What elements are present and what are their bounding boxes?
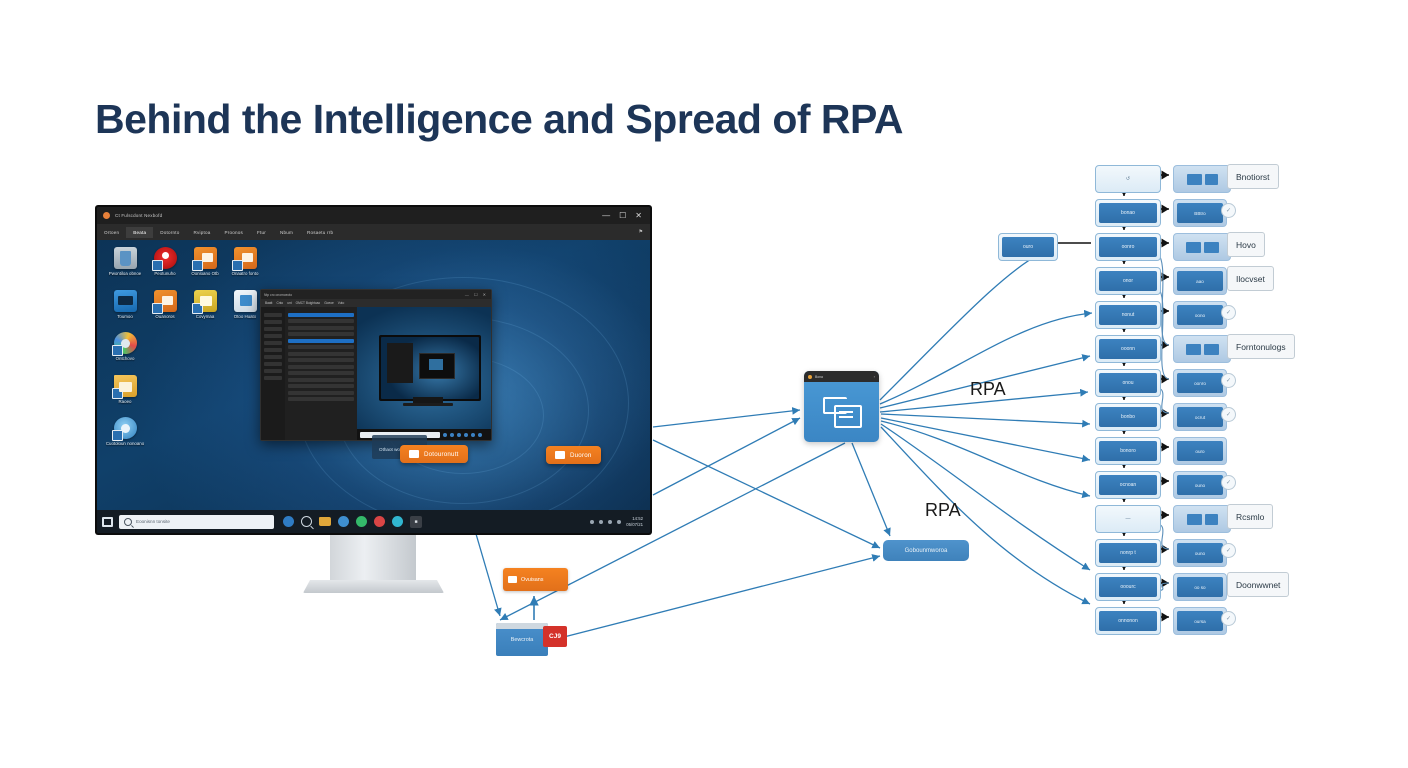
taskbar-icons[interactable]: ■ bbox=[283, 516, 422, 528]
bottom-orange-badge[interactable]: Ovuisans bbox=[503, 568, 568, 591]
flowchart-action-0[interactable] bbox=[1173, 165, 1231, 193]
window-titlebar[interactable]: Ct Fulscdont Nexbofd — ☐ ✕ bbox=[97, 207, 650, 224]
block-right-icon bbox=[1205, 514, 1218, 525]
bottom-orange-badge-label: Ovuisans bbox=[521, 577, 543, 583]
flowchart-action-4[interactable]: oono bbox=[1173, 301, 1227, 329]
flowchart-action-label-12: oo so bbox=[1194, 585, 1205, 590]
flowchart-side-node-label: ouro bbox=[1023, 244, 1033, 250]
flowchart-step-9[interactable]: ocnoan bbox=[1095, 471, 1161, 499]
hub-titlebar: Bona › bbox=[804, 371, 879, 382]
white-page-icon bbox=[234, 290, 257, 312]
desktop-icon-grid: Pwontiloa obnoePeotunuhoOonloano OtbOnaa… bbox=[105, 247, 265, 460]
flowchart-step-1[interactable]: bonao bbox=[1095, 199, 1161, 227]
shortcut-badge-icon bbox=[112, 430, 123, 441]
desktop-icon[interactable]: Toumoo bbox=[105, 290, 145, 320]
nested-tab-4[interactable]: Goeoe bbox=[324, 301, 334, 305]
file-explorer-icon[interactable] bbox=[319, 517, 331, 526]
flowchart-step-label-11: nonrp t bbox=[1120, 550, 1136, 556]
desktop-icon-label: Covymaa bbox=[185, 314, 225, 320]
monitor-stand-neck bbox=[330, 535, 416, 580]
action-pill: ouro bbox=[1177, 441, 1223, 461]
active-app-icon[interactable]: ■ bbox=[410, 516, 422, 528]
block-left-icon bbox=[1186, 344, 1201, 355]
nested-tab-2[interactable]: unt bbox=[287, 301, 291, 305]
flowchart-step-4[interactable]: nonut bbox=[1095, 301, 1161, 329]
flowchart-check-icon-13[interactable]: ✓ bbox=[1221, 611, 1236, 626]
flowchart-action-10[interactable] bbox=[1173, 505, 1231, 533]
governance-node-label: Gobounmworoa bbox=[905, 548, 948, 554]
block-left-icon bbox=[1187, 174, 1202, 185]
badge-icon bbox=[555, 451, 565, 459]
desktop-icon[interactable]: Ouanoros bbox=[145, 290, 185, 320]
flowchart-step-inner: onnonon bbox=[1099, 611, 1157, 631]
desktop-icon-label: Onaatro fonto bbox=[225, 271, 265, 277]
folder-icon bbox=[114, 375, 137, 397]
menu-item-2[interactable]: Dotornto bbox=[153, 227, 186, 238]
flowchart-step-11[interactable]: nonrp t bbox=[1095, 539, 1161, 567]
flowchart-action-label-9: ouno bbox=[1195, 483, 1205, 488]
desktop-icon[interactable]: Covymaa bbox=[185, 290, 225, 320]
flowchart-step-3[interactable]: onor bbox=[1095, 267, 1161, 295]
nested-tab-5[interactable]: Vuto bbox=[338, 301, 344, 305]
mail-icon[interactable] bbox=[356, 516, 367, 527]
flowchart-output-12[interactable]: Doonwwnet bbox=[1227, 572, 1289, 597]
flowchart-action-12[interactable]: oo so bbox=[1173, 573, 1227, 601]
flowchart-step-0[interactable]: ↺ bbox=[1095, 165, 1161, 193]
flowchart-output-label-0: Bnotiorst bbox=[1236, 172, 1270, 182]
flowchart-step-inner: onou bbox=[1099, 373, 1157, 393]
nested-tab-3[interactable]: OMCT Buightoao bbox=[296, 301, 321, 305]
chevron-right-icon[interactable]: › bbox=[874, 374, 875, 379]
desktop-icon[interactable]: Cuotoloun nonoano bbox=[105, 417, 145, 447]
window-stack-icon bbox=[823, 397, 860, 425]
action-pill: ouno bbox=[1177, 475, 1223, 495]
desktop-icon-label: Pwontiloa obnoe bbox=[105, 271, 145, 277]
flowchart-step-13[interactable]: onnonon bbox=[1095, 607, 1161, 635]
desktop-icon-label: Ontchovo bbox=[105, 356, 145, 362]
flowchart-step-2[interactable]: oonro bbox=[1095, 233, 1161, 261]
desktop-icon[interactable]: Ontchovo bbox=[105, 332, 145, 362]
flowchart-output-3[interactable]: Ilocvset bbox=[1227, 266, 1274, 291]
app-icon bbox=[103, 212, 110, 219]
nested-window-titlebar[interactable]: Ntp cro onomoeoto — ☐ ✕ bbox=[261, 290, 491, 299]
flowchart-step-label-7: bonbo bbox=[1121, 414, 1135, 420]
flowchart-action-5[interactable] bbox=[1173, 335, 1231, 363]
edge-browser-icon[interactable] bbox=[283, 516, 294, 527]
search-icon bbox=[124, 518, 132, 526]
flowchart-step-inner: nonrp t bbox=[1099, 543, 1157, 563]
nested-window-title: Ntp cro onomoeoto bbox=[264, 293, 292, 297]
shortcut-badge-icon bbox=[152, 303, 163, 314]
desktop-icon-label: Otoo Huato bbox=[225, 314, 265, 320]
desktop-icon[interactable]: Peotunuho bbox=[145, 247, 185, 277]
screen-badge-secondary-label: Duoron bbox=[570, 452, 592, 459]
flowchart-output-label-12: Doonwwnet bbox=[1236, 580, 1280, 590]
badge-icon bbox=[409, 450, 419, 458]
flowchart-step-label-1: bonao bbox=[1121, 210, 1135, 216]
flowchart-step-label-0: ↺ bbox=[1126, 176, 1130, 182]
action-pill: ouno bbox=[1177, 543, 1223, 563]
desktop-icon-row: Cuotoloun nonoano bbox=[105, 417, 265, 460]
flowchart-step-label-5: ooonn bbox=[1121, 346, 1135, 352]
search-input[interactable]: Eoonisnn tonsite bbox=[119, 515, 274, 529]
screen-badge-primary[interactable]: Dotouronutt bbox=[400, 445, 468, 463]
desktop-icon[interactable]: Otoo Huato bbox=[225, 290, 265, 320]
bottom-red-badge[interactable]: CJ9 bbox=[543, 626, 567, 647]
action-pill: oo so bbox=[1177, 577, 1223, 597]
hub-title: Bona bbox=[815, 375, 823, 379]
monitor-stand-base bbox=[303, 580, 444, 593]
desktop-icon[interactable]: Oonloano Otb bbox=[185, 247, 225, 277]
menu-item-6[interactable]: Nbum bbox=[273, 227, 300, 238]
flowchart-step-label-9: ocnoan bbox=[1120, 482, 1136, 488]
nested-window[interactable]: Ntp cro onomoeoto — ☐ ✕ BaattCntountOMCT… bbox=[260, 289, 492, 441]
flowchart-output-5[interactable]: Forntonulogs bbox=[1227, 334, 1295, 359]
flowchart-step-inner: oonro bbox=[1099, 237, 1157, 257]
action-pill: BBtro bbox=[1177, 203, 1223, 223]
desktop-icon-label: Raoeo bbox=[105, 399, 145, 405]
flowchart-action-label-7: ocrut bbox=[1195, 415, 1205, 420]
menu-item-0[interactable]: Ortoen bbox=[97, 227, 126, 238]
nested-monitor-image bbox=[379, 335, 481, 401]
rpa-label-upper: RPA bbox=[970, 379, 1006, 400]
diagram-canvas: Behind the Intelligence and Spread of RP… bbox=[0, 0, 1408, 768]
flowchart-output-label-5: Forntonulogs bbox=[1236, 342, 1286, 352]
flowchart-action-label-4: oono bbox=[1195, 313, 1205, 318]
bottom-blue-window-label: Bewcrota bbox=[496, 637, 548, 643]
nested-window-controls[interactable]: — ☐ ✕ bbox=[465, 292, 491, 297]
desktop-icon[interactable]: Raoeo bbox=[105, 375, 145, 405]
desktop-icon-label: Ouanoros bbox=[145, 314, 185, 320]
tray-clock[interactable]: 14:5205/07/21 bbox=[626, 516, 643, 526]
desktop-icon-label: Cuotoloun nonoano bbox=[105, 441, 145, 447]
shortcut-badge-icon bbox=[192, 260, 203, 271]
flowchart-action-label-1: BBtro bbox=[1194, 211, 1206, 216]
tray-clock-line: 05/07/21 bbox=[626, 522, 643, 527]
flowchart-action-label-3: aao bbox=[1196, 279, 1204, 284]
flowchart-check-icon-7[interactable]: ✓ bbox=[1221, 407, 1236, 422]
block-left-icon bbox=[1186, 242, 1201, 253]
flowchart-step-inner: bonoro bbox=[1099, 441, 1157, 461]
block-right-icon bbox=[1204, 242, 1219, 253]
yellow-note-icon bbox=[194, 290, 217, 312]
flowchart-step-12[interactable]: ooourc bbox=[1095, 573, 1161, 601]
flowchart-action-13[interactable]: oursa bbox=[1173, 607, 1227, 635]
automation-flowchart: ouro↺BnotiorstbonaoBBtro✓oonroHovoonoraa… bbox=[1040, 160, 1310, 660]
flowchart-step-inner: nonut bbox=[1099, 305, 1157, 325]
nested-canvas bbox=[357, 307, 491, 440]
search-placeholder: Eoonisnn tonsite bbox=[136, 519, 170, 524]
flowchart-output-label-3: Ilocvset bbox=[1236, 274, 1265, 284]
flowchart-side-node[interactable]: ouro bbox=[998, 233, 1058, 261]
menu-item-3[interactable]: Rviptoa bbox=[187, 227, 218, 238]
action-pill: ocrut bbox=[1177, 407, 1223, 427]
flowchart-action-6[interactable]: oonro bbox=[1173, 369, 1227, 397]
flowchart-step-inner: bonao bbox=[1099, 203, 1157, 223]
flowchart-action-8[interactable]: ouro bbox=[1173, 437, 1227, 465]
flowchart-step-label-12: ooourc bbox=[1120, 584, 1135, 590]
rpa-label-lower: RPA bbox=[925, 500, 961, 521]
desktop-icon-label: Toumoo bbox=[105, 314, 145, 320]
flowchart-step-7[interactable]: bonbo bbox=[1095, 403, 1161, 431]
red-circle-app-icon bbox=[154, 247, 177, 269]
flowchart-action-11[interactable]: ouno bbox=[1173, 539, 1227, 567]
flowchart-step-label-13: onnonon bbox=[1118, 618, 1137, 624]
orange-screen-icon bbox=[154, 290, 177, 312]
badge-icon bbox=[508, 576, 517, 583]
blue-monitor-icon bbox=[114, 290, 137, 312]
shortcut-badge-icon bbox=[152, 260, 163, 271]
window-menubar[interactable]: OrtoenBeataDotorntoRviptoaProonosFturNbu… bbox=[97, 224, 650, 240]
flowchart-step-label-3: onor bbox=[1123, 278, 1133, 284]
flowchart-step-inner: onor bbox=[1099, 271, 1157, 291]
maximize-icon[interactable]: ☐ bbox=[619, 212, 626, 220]
monitor: Ct Fulscdont Nexbofd — ☐ ✕ OrtoenBeataDo… bbox=[95, 205, 652, 535]
flowchart-step-inner: ooonn bbox=[1099, 339, 1157, 359]
flowchart-step-inner: — bbox=[1099, 509, 1157, 529]
bottom-window-titlebar bbox=[496, 623, 548, 629]
flowchart-action-1[interactable]: BBtro bbox=[1173, 199, 1227, 227]
desktop-icon-row: Ontchovo bbox=[105, 332, 265, 375]
flowchart-action-7[interactable]: ocrut bbox=[1173, 403, 1227, 431]
desktop-icon-row: Raoeo bbox=[105, 375, 265, 418]
monitor-screen: Ct Fulscdont Nexbofd — ☐ ✕ OrtoenBeataDo… bbox=[97, 207, 650, 533]
block-left-icon bbox=[1187, 514, 1202, 525]
flowchart-step-label-10: — bbox=[1126, 516, 1131, 522]
rpa-hub-node[interactable]: Bona › bbox=[804, 371, 879, 442]
desktop-icon-row: Pwontiloa obnoePeotunuhoOonloano OtbOnaa… bbox=[105, 247, 265, 290]
tray-icon[interactable] bbox=[617, 520, 621, 524]
action-pill: oursa bbox=[1177, 611, 1223, 631]
window-controls[interactable]: — ☐ ✕ bbox=[602, 212, 650, 220]
flowchart-step-inner: bonbo bbox=[1099, 407, 1157, 427]
windows-start-icon[interactable] bbox=[102, 517, 113, 527]
menubar-flag-icon[interactable]: ⚑ bbox=[639, 229, 650, 235]
screen-badge-secondary[interactable]: Duoron bbox=[546, 446, 601, 464]
hub-app-icon bbox=[808, 375, 812, 379]
flowchart-check-icon-9[interactable]: ✓ bbox=[1221, 475, 1236, 490]
minimize-icon[interactable]: — bbox=[602, 212, 610, 220]
shortcut-badge-icon bbox=[112, 345, 123, 356]
bottom-blue-window[interactable]: Bewcrota bbox=[496, 623, 548, 656]
menu-item-1[interactable]: Beata bbox=[126, 227, 153, 238]
orange-document-icon bbox=[234, 247, 257, 269]
flowchart-output-0[interactable]: Bnotiorst bbox=[1227, 164, 1279, 189]
flowchart-action-label-8: ouro bbox=[1195, 449, 1204, 454]
flowchart-action-3[interactable]: aao bbox=[1173, 267, 1227, 295]
flowchart-check-icon-11[interactable]: ✓ bbox=[1221, 543, 1236, 558]
flowchart-side-node-inner: ouro bbox=[1002, 237, 1054, 257]
flowchart-step-inner: ocnoan bbox=[1099, 475, 1157, 495]
flowchart-check-icon-4[interactable]: ✓ bbox=[1221, 305, 1236, 320]
flowchart-output-2[interactable]: Hovo bbox=[1227, 232, 1265, 257]
flowchart-check-icon-6[interactable]: ✓ bbox=[1221, 373, 1236, 388]
flowchart-step-10[interactable]: — bbox=[1095, 505, 1161, 533]
nested-monitor-base bbox=[403, 403, 453, 406]
network-globe-icon bbox=[114, 417, 137, 439]
menu-item-7[interactable]: Rosaetu rrb bbox=[300, 227, 340, 238]
flowchart-step-label-6: onou bbox=[1122, 380, 1133, 386]
screen-badge-primary-label: Dotouronutt bbox=[424, 451, 459, 458]
nested-file-list[interactable] bbox=[285, 307, 357, 440]
browser-orb-icon bbox=[114, 332, 137, 354]
nested-tab-1[interactable]: Cnto bbox=[276, 301, 283, 305]
flowchart-output-label-10: Rcsmlo bbox=[1236, 512, 1264, 522]
flowchart-check-icon-1[interactable]: ✓ bbox=[1221, 203, 1236, 218]
block-right-icon bbox=[1205, 174, 1218, 185]
window-title: Ct Fulscdont Nexbofd bbox=[115, 213, 162, 218]
flowchart-step-label-2: oonro bbox=[1122, 244, 1135, 250]
close-icon[interactable]: ✕ bbox=[635, 212, 642, 220]
flowchart-step-label-8: bonoro bbox=[1120, 448, 1136, 454]
flowchart-action-9[interactable]: ouno bbox=[1173, 471, 1227, 499]
nested-window-body bbox=[261, 307, 491, 440]
search-icon[interactable] bbox=[301, 516, 312, 527]
desktop-icon-row: ToumooOuanorosCovymaaOtoo Huato bbox=[105, 290, 265, 333]
bottom-red-badge-label: CJ9 bbox=[549, 633, 561, 640]
nested-sidebar[interactable] bbox=[261, 307, 285, 440]
flowchart-step-inner: ooourc bbox=[1099, 577, 1157, 597]
flowchart-action-2[interactable] bbox=[1173, 233, 1231, 261]
desktop-icon[interactable]: Onaatro fonto bbox=[225, 247, 265, 277]
action-pill: aao bbox=[1177, 271, 1223, 291]
orange-document-icon bbox=[194, 247, 217, 269]
flowchart-action-label-6: oonro bbox=[1194, 381, 1206, 386]
page-title: Behind the Intelligence and Spread of RP… bbox=[95, 96, 903, 143]
tray-icon[interactable] bbox=[590, 520, 594, 524]
shortcut-badge-icon bbox=[232, 260, 243, 271]
flowchart-step-label-4: nonut bbox=[1122, 312, 1135, 318]
flowchart-step-inner: ↺ bbox=[1099, 169, 1157, 189]
flowchart-step-5[interactable]: ooonn bbox=[1095, 335, 1161, 363]
menu-item-5[interactable]: Ftur bbox=[250, 227, 273, 238]
desktop-icon-label: Peotunuho bbox=[145, 271, 185, 277]
taskbar[interactable]: Eoonisnn tonsite ■ 14:5205/07/21 bbox=[97, 510, 650, 533]
shortcut-badge-icon bbox=[112, 388, 123, 399]
nested-window-tabs[interactable]: BaattCntountOMCT BuightoaoGoeoeVuto bbox=[261, 299, 491, 307]
nested-tab-0[interactable]: Baatt bbox=[265, 301, 272, 305]
flowchart-action-label-11: ouno bbox=[1195, 551, 1205, 556]
flowchart-output-label-2: Hovo bbox=[1236, 240, 1256, 250]
teams-icon[interactable] bbox=[392, 516, 403, 527]
flowchart-output-10[interactable]: Rcsmlo bbox=[1227, 504, 1273, 529]
action-pill: oonro bbox=[1177, 373, 1223, 393]
system-tray[interactable]: 14:5205/07/21 bbox=[590, 516, 650, 526]
flowchart-step-8[interactable]: bonoro bbox=[1095, 437, 1161, 465]
record-icon[interactable] bbox=[374, 516, 385, 527]
menu-item-4[interactable]: Proonos bbox=[217, 227, 250, 238]
shortcut-badge-icon bbox=[192, 303, 203, 314]
flowchart-step-6[interactable]: onou bbox=[1095, 369, 1161, 397]
governance-node[interactable]: Gobounmworoa bbox=[883, 540, 969, 561]
flowchart-action-label-13: oursa bbox=[1194, 619, 1206, 624]
store-icon[interactable] bbox=[338, 516, 349, 527]
desktop-icon[interactable]: Pwontiloa obnoe bbox=[105, 247, 145, 277]
recycle-bin-icon bbox=[114, 247, 137, 269]
action-pill: oono bbox=[1177, 305, 1223, 325]
block-right-icon bbox=[1204, 344, 1219, 355]
desktop-icon-label: Oonloano Otb bbox=[185, 271, 225, 277]
tray-icon[interactable] bbox=[608, 520, 612, 524]
tray-icon[interactable] bbox=[599, 520, 603, 524]
